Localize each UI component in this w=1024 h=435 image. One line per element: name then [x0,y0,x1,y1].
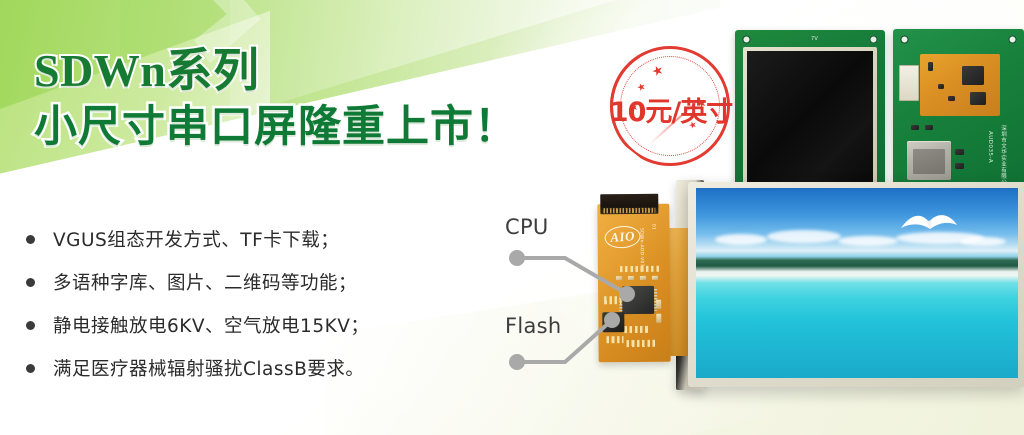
mounting-hole-icon [742,35,751,44]
controller-board-code-silkscreen: AUD035-A [987,131,993,163]
cpu-chip [622,286,654,314]
smd-component [925,125,933,130]
aio-logo: AIO [604,225,642,250]
flex-pcb-code-silkscreen: SDWn-AOD-V03 [639,228,644,267]
cloud-shape [767,230,841,243]
flash-chip [602,312,624,332]
controller-chip [962,66,984,85]
cloud-shape [838,236,898,246]
smd-component [656,314,661,323]
smd-component [948,96,955,101]
flex-pcb-board: AIO SDWn-AOD-V03 01 [597,204,670,363]
cloud-shape [960,237,1006,246]
list-item: 满足医疗器械辐射骚扰ClassB要求。 [26,351,369,385]
lcd-bezel [743,47,877,203]
bullet-dot-icon [26,235,35,244]
smd-component [911,125,919,130]
smd-component [955,163,964,169]
mounting-hole-icon [869,35,878,44]
smd-component [640,276,646,280]
solder-pads [604,296,621,304]
flex-cable-connector [600,194,658,215]
tf-card-slot [907,141,951,180]
lcd-module-green-board: 7V [735,30,885,205]
feature-text: VGUS组态开发方式、TF卡下载； [53,226,339,252]
daughter-board-orange [920,54,1000,116]
tft-screen-beach-photo [696,188,1018,378]
product-banner: 7V AUD035-A 深圳市文华实业有限公司 [0,0,1024,435]
mounting-hole-icon [1008,35,1017,44]
smd-component [955,149,964,155]
bullet-dot-icon [26,321,35,330]
seagull-icon [899,211,959,237]
memory-chip [970,92,986,105]
bullet-dot-icon [26,278,35,287]
headline-block: SDWn系列 小尺寸串口屏隆重上市！ [34,48,518,150]
price-stamp-text: 10元/英寸 [605,43,737,175]
solder-pads [606,336,623,343]
bullet-dot-icon [26,364,35,373]
solder-pads [620,266,660,272]
feature-text: 满足医疗器械辐射骚扰ClassB要求。 [53,355,364,381]
feature-list: VGUS组态开发方式、TF卡下载； 多语种字库、图片、二维码等功能； 静电接触放… [26,222,369,394]
cloud-shape [715,234,767,245]
smd-component [928,62,933,71]
list-item: 静电接触放电6KV、空气放电15KV； [26,308,369,342]
smd-component [628,276,634,280]
lcd-board-silkscreen: 7V [811,36,818,42]
lcd-screen-off [747,51,873,199]
smd-component [938,84,944,89]
price-stamp-seal: ★ ★ ★ ★ ★ 10元/英寸 [584,20,756,192]
smd-component [616,276,622,280]
list-item: VGUS组态开发方式、TF卡下载； [26,222,369,256]
ffc-connector [899,65,919,101]
list-item: 多语种字库、图片、二维码等功能； [26,265,369,299]
flex-pcb-rev-silkscreen: 01 [650,224,655,230]
solder-pads [626,340,656,347]
smd-component [656,300,661,309]
tft-display-main [688,182,1024,387]
headline-line-1: SDWn系列 [34,48,518,95]
mounting-hole-icon [900,35,909,44]
feature-text: 静电接触放电6KV、空气放电15KV； [53,312,369,338]
headline-line-2: 小尺寸串口屏隆重上市！ [34,105,518,150]
solder-pads [624,326,650,333]
feature-text: 多语种字库、图片、二维码等功能； [53,269,357,295]
smd-component [652,276,658,280]
